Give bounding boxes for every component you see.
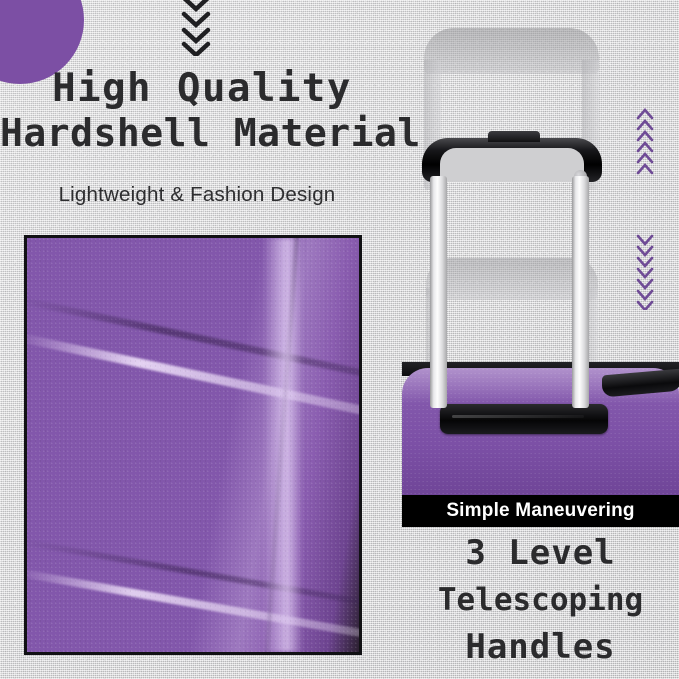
- chevron-down-stack-icon: [168, 0, 224, 56]
- bottom-title: 3 Level Telescoping Handles: [402, 530, 679, 671]
- bottom-line-1: 3 Level: [402, 530, 679, 577]
- handle-housing-recess: [440, 404, 608, 434]
- suitcase-photo: [402, 0, 679, 500]
- texture-grain: [27, 238, 359, 652]
- handle-inner-cutout: [440, 148, 584, 182]
- headline-line-1: High Quality: [0, 66, 404, 111]
- telescoping-tube-left-front: [430, 176, 447, 408]
- ghost-handle-level-3: [424, 28, 599, 74]
- telescoping-tube-right-front: [572, 176, 589, 408]
- subheading: Lightweight & Fashion Design: [0, 183, 394, 207]
- page-title: High Quality Hardshell Material: [0, 66, 404, 156]
- handle-release-button: [488, 131, 540, 142]
- banner-label: Simple Maneuvering: [446, 500, 634, 522]
- hardshell-texture-photo: [24, 235, 362, 655]
- bottom-line-2: Telescoping: [402, 577, 679, 624]
- status-badge: Simple Maneuvering: [402, 495, 679, 527]
- product-feature-poster: High Quality Hardshell Material Lightwei…: [0, 0, 679, 679]
- bottom-line-3: Handles: [402, 624, 679, 671]
- headline-line-2: Hardshell Material: [0, 111, 404, 156]
